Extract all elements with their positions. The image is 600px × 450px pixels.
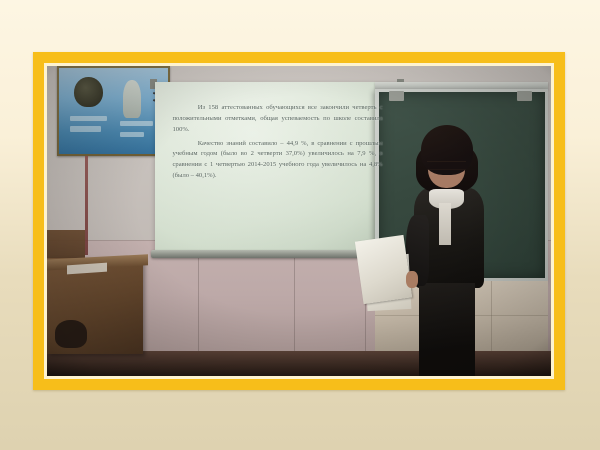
poster-text-line [120,121,153,126]
poster-text-line [70,126,101,131]
projection-screen: Из 158 аттестованных обучающихся все зак… [155,82,399,256]
photo-frame: Из 158 аттестованных обучающихся все зак… [33,52,565,390]
wall-cable-red [85,156,88,255]
poster-figure-icon [123,80,142,118]
photo-frame-inner-border: Из 158 аттестованных обучающихся все зак… [44,63,554,379]
classroom-photograph: Из 158 аттестованных обучающихся все зак… [47,66,551,376]
slide-text-block: Из 158 аттестованных обучающихся все зак… [155,82,399,182]
chalkboard-clip [517,91,532,100]
presenter-shirt-front [439,203,452,246]
poster-text-line [120,132,144,137]
presenter-held-paper [355,235,412,304]
bag-under-desk [55,320,88,348]
poster-emblem-icon [74,77,102,108]
presenter-glasses-icon [427,161,466,170]
slide-paragraph-1: Из 158 аттестованных обучающихся все зак… [172,103,382,135]
presenter-figure [397,125,503,376]
slide-paragraph-2: Качество знаний составило – 44,9 %, в ср… [172,139,382,182]
presenter-trousers [419,283,474,376]
presenter-hand [406,271,419,289]
poster-text-line [70,116,107,121]
